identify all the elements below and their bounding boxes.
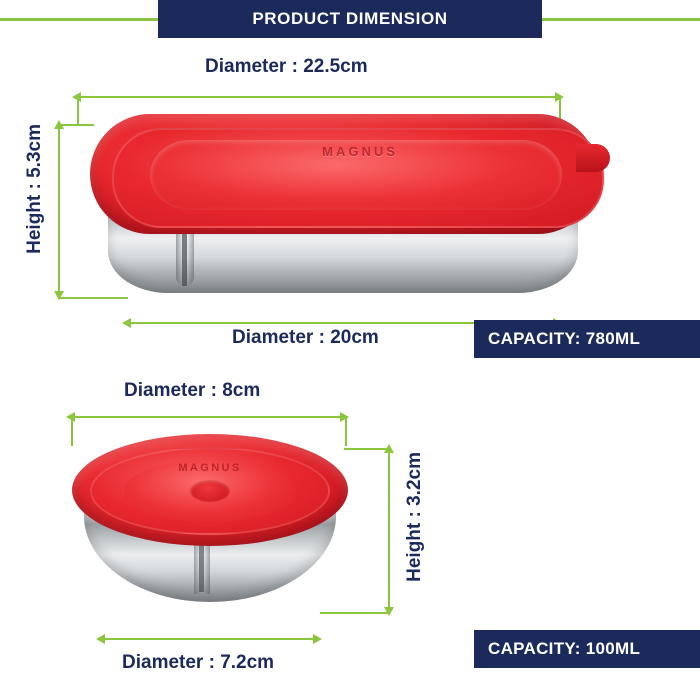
oval-lid-tab — [576, 144, 610, 172]
oval-height-arrow — [54, 120, 65, 300]
round-height-arrow — [384, 444, 395, 616]
oval-container-image: MAGNUS — [78, 108, 608, 308]
oval-red-lid: MAGNUS — [90, 114, 598, 234]
brand-logo-round: MAGNUS — [150, 462, 270, 474]
page-title: PRODUCT DIMENSION — [158, 0, 542, 38]
round-bottom-diameter-arrow — [96, 634, 322, 645]
oval-top-diameter-label: Diameter : 22.5cm — [205, 56, 368, 78]
round-lid-center-boss — [190, 480, 230, 502]
round-height-label: Height : 3.2cm — [404, 452, 426, 582]
oval-top-diameter-arrow — [72, 92, 564, 103]
page-header: PRODUCT DIMENSION — [0, 0, 700, 38]
round-container-image: MAGNUS — [72, 428, 362, 628]
round-red-lid: MAGNUS — [72, 434, 348, 546]
round-height-guide-bottom — [320, 612, 388, 614]
round-top-diameter-label: Diameter : 8cm — [124, 380, 260, 402]
brand-logo-oval: MAGNUS — [280, 144, 440, 159]
capacity-badge-round: CAPACITY: 100ML — [474, 630, 700, 668]
capacity-badge-oval: CAPACITY: 780ML — [474, 320, 700, 358]
oval-height-label: Height : 5.3cm — [24, 124, 46, 254]
round-bottom-diameter-label: Diameter : 7.2cm — [122, 652, 274, 674]
round-height-guide-top — [344, 448, 388, 450]
round-top-diameter-arrow — [66, 412, 349, 423]
oval-bottom-diameter-label: Diameter : 20cm — [232, 327, 379, 349]
